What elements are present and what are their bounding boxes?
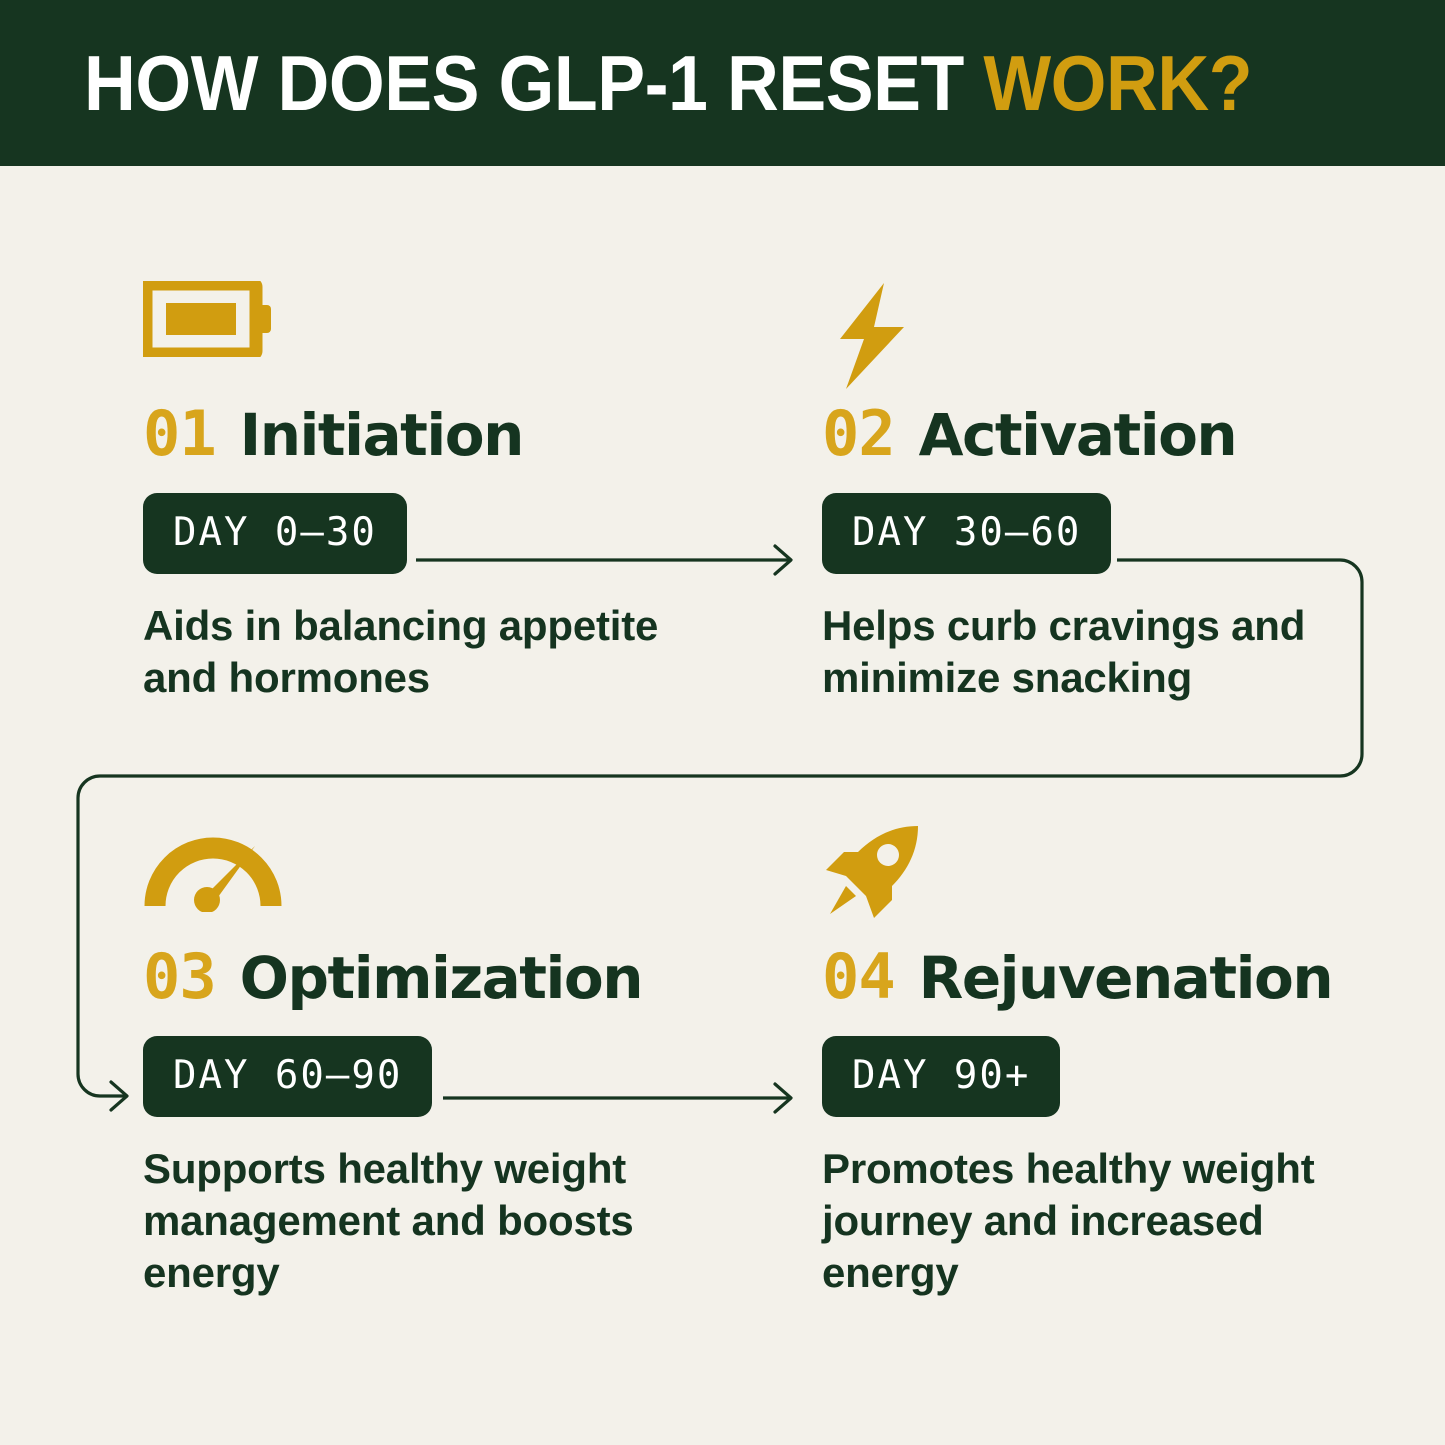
step-description-04: Promotes healthy weight journey and incr… [822, 1143, 1382, 1299]
page-header: HOW DOES GLP-1 RESET WORK? [0, 0, 1445, 166]
step-title-03: Optimization [240, 949, 642, 1007]
rocket-icon [822, 824, 1422, 924]
step-heading-03: 03 Optimization [143, 946, 743, 1008]
step-card-02: 02 Activation DAY 30–60 Helps curb cravi… [822, 281, 1422, 704]
step-number-01: 01 [143, 403, 216, 465]
page-title-main: HOW DOES GLP-1 RESET [84, 39, 983, 127]
gauge-icon [143, 824, 743, 924]
step-number-02: 02 [822, 403, 895, 465]
step-description-02: Helps curb cravings and minimize snackin… [822, 600, 1382, 704]
step-title-02: Activation [919, 406, 1237, 464]
step-number-03: 03 [143, 946, 216, 1008]
step-card-01: 01 Initiation DAY 0–30 Aids in balancing… [143, 281, 743, 704]
step-title-04: Rejuvenation [919, 949, 1333, 1007]
steps-grid: 01 Initiation DAY 0–30 Aids in balancing… [0, 166, 1445, 1445]
lightning-bolt-icon [822, 281, 1422, 381]
step-card-04: 04 Rejuvenation DAY 90+ Promotes healthy… [822, 824, 1422, 1299]
step-badge-01: DAY 0–30 [143, 493, 407, 574]
step-number-04: 04 [822, 946, 895, 1008]
step-heading-01: 01 Initiation [143, 403, 743, 465]
step-card-03: 03 Optimization DAY 60–90 Supports healt… [143, 824, 743, 1299]
page-title: HOW DOES GLP-1 RESET WORK? [84, 44, 1252, 122]
step-description-03: Supports healthy weight management and b… [143, 1143, 723, 1299]
step-badge-04: DAY 90+ [822, 1036, 1060, 1117]
step-title-01: Initiation [240, 406, 523, 464]
step-badge-02: DAY 30–60 [822, 493, 1111, 574]
step-heading-02: 02 Activation [822, 403, 1422, 465]
battery-icon [143, 281, 743, 381]
page-title-accent: WORK? [983, 39, 1252, 127]
step-description-01: Aids in balancing appetite and hormones [143, 600, 723, 704]
step-heading-04: 04 Rejuvenation [822, 946, 1422, 1008]
step-badge-03: DAY 60–90 [143, 1036, 432, 1117]
